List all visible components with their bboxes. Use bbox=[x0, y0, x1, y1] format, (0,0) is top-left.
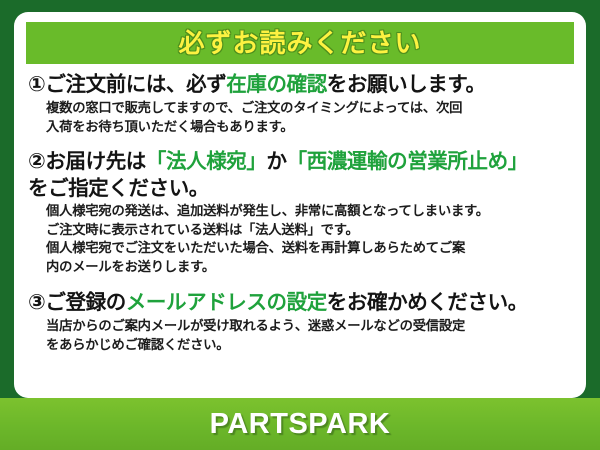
item-1-heading-highlight: 在庫の確認 bbox=[226, 73, 327, 96]
item-3-heading-part-3: をお確かめください。 bbox=[327, 291, 528, 314]
item-2-heading-part-3: か bbox=[267, 150, 287, 173]
item-3-body-line-2: をあらかじめご確認ください。 bbox=[46, 336, 574, 355]
item-3-number: ③ bbox=[28, 291, 45, 314]
notice-item-2-body: 個人様宅宛の発送は、追加送料が発生し、非常に高額となってしまいます。 ご注文時に… bbox=[46, 202, 574, 278]
brand-logo: PARTSPARK bbox=[210, 410, 391, 439]
item-1-heading-part-3: をお願いします。 bbox=[327, 73, 486, 96]
page-title: 必ずお読みください bbox=[178, 30, 421, 56]
notice-item-2-heading: ②お届け先は「法人様宛」か「西濃運輸の営業所止め」 bbox=[28, 149, 574, 176]
item-2-heading-part-1: お届け先は bbox=[45, 150, 146, 173]
item-3-heading-highlight: メールアドレスの設定 bbox=[126, 291, 327, 314]
item-2-heading-highlight-2: 「西濃運輸の営業所止め」 bbox=[287, 150, 528, 173]
item-2-body-line-4: 内のメールをお送りします。 bbox=[46, 258, 574, 277]
notice-item-3-body: 当店からのご案内メールが受け取れるよう、迷惑メールなどの受信設定 をあらかじめご… bbox=[46, 317, 574, 355]
notice-item-3-heading: ③ご登録のメールアドレスの設定をお確かめください。 bbox=[28, 290, 574, 317]
item-1-number: ① bbox=[28, 73, 45, 96]
notice-card: 必ずお読みください ①ご注文前には、必ず在庫の確認をお願いします。 複数の窓口で… bbox=[14, 12, 586, 398]
item-2-body-line-3: 個人様宅宛でご注文をいただいた場合、送料を再計算しあらためてご案 bbox=[46, 239, 574, 258]
notice-item-1-heading: ①ご注文前には、必ず在庫の確認をお願いします。 bbox=[28, 72, 574, 99]
item-2-body-line-2: ご注文時に表示されている送料は「法人送料」です。 bbox=[46, 221, 574, 240]
footer-band: PARTSPARK bbox=[0, 398, 600, 450]
item-2-number: ② bbox=[28, 150, 45, 173]
title-bar: 必ずお読みください bbox=[26, 22, 574, 64]
notice-item-1-body: 複数の窓口で販売してますので、ご注文のタイミングによっては、次回 入荷をお待ち頂… bbox=[46, 99, 574, 137]
notice-item-2-heading-line2: をご指定ください。 bbox=[28, 176, 574, 202]
notice-banner: 必ずお読みください ①ご注文前には、必ず在庫の確認をお願いします。 複数の窓口で… bbox=[0, 0, 600, 450]
item-2-heading-highlight-1: 「法人様宛」 bbox=[146, 150, 267, 173]
item-3-body-line-1: 当店からのご案内メールが受け取れるよう、迷惑メールなどの受信設定 bbox=[46, 317, 574, 336]
notice-item-1: ①ご注文前には、必ず在庫の確認をお願いします。 複数の窓口で販売してますので、ご… bbox=[28, 72, 574, 137]
item-1-heading-part-1: ご注文前には、必ず bbox=[45, 73, 226, 96]
notice-item-3: ③ご登録のメールアドレスの設定をお確かめください。 当店からのご案内メールが受け… bbox=[28, 290, 574, 355]
notice-item-2: ②お届け先は「法人様宛」か「西濃運輸の営業所止め」 をご指定ください。 個人様宅… bbox=[28, 149, 574, 278]
item-1-body-line-1: 複数の窓口で販売してますので、ご注文のタイミングによっては、次回 bbox=[46, 99, 574, 118]
notice-body: ①ご注文前には、必ず在庫の確認をお願いします。 複数の窓口で販売してますので、ご… bbox=[14, 70, 586, 357]
item-1-body-line-2: 入荷をお待ち頂いただく場合もあります。 bbox=[46, 118, 574, 137]
item-3-heading-part-1: ご登録の bbox=[45, 291, 125, 314]
item-2-body-line-1: 個人様宅宛の発送は、追加送料が発生し、非常に高額となってしまいます。 bbox=[46, 202, 574, 221]
